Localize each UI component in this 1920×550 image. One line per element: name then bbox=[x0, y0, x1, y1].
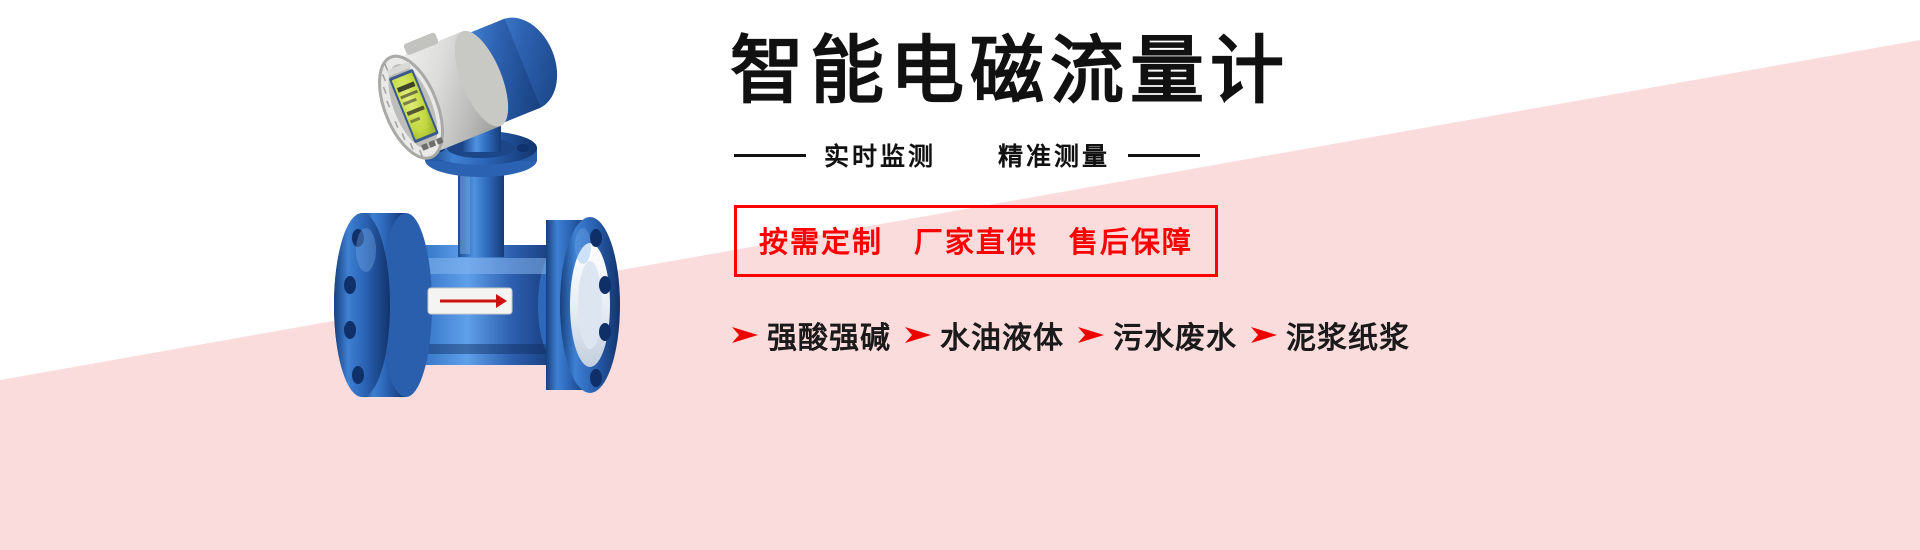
banner-text-block: 智能电磁流量计 实时监测 精准测量 按需定制 厂家直供 售后保障 强酸强碱 bbox=[730, 30, 1430, 357]
application-label: 水油液体 bbox=[940, 313, 1064, 357]
red-triangle-arrow-icon bbox=[732, 325, 758, 345]
subtitle-right: 精准测量 bbox=[998, 137, 1110, 173]
application-label: 污水废水 bbox=[1113, 313, 1237, 357]
subtitle-rule-right bbox=[1128, 154, 1200, 157]
application-list: 强酸强碱 水油液体 污水废水 泥浆纸浆 bbox=[732, 313, 1430, 357]
flowmeter-product-image bbox=[300, 0, 720, 500]
subtitle-rule-left bbox=[734, 154, 806, 157]
transmitter-neck bbox=[458, 165, 504, 257]
subtitle-row: 实时监测 精准测量 bbox=[730, 137, 1430, 173]
promo-item-factory: 厂家直供 bbox=[914, 227, 1038, 259]
promo-item-custom: 按需定制 bbox=[759, 227, 883, 259]
right-flange bbox=[546, 217, 620, 393]
promo-item-warranty: 售后保障 bbox=[1069, 227, 1193, 259]
left-flange bbox=[334, 213, 432, 397]
promo-box: 按需定制 厂家直供 售后保障 bbox=[734, 205, 1218, 277]
list-item: 强酸强碱 bbox=[732, 313, 891, 357]
list-item: 泥浆纸浆 bbox=[1251, 313, 1410, 357]
red-triangle-arrow-icon bbox=[1078, 325, 1104, 345]
red-triangle-arrow-icon bbox=[905, 325, 931, 345]
flow-direction-arrow bbox=[428, 288, 512, 314]
application-label: 泥浆纸浆 bbox=[1286, 313, 1410, 357]
page-title: 智能电磁流量计 bbox=[730, 30, 1430, 111]
red-triangle-arrow-icon bbox=[1251, 325, 1277, 345]
product-banner: 智能电磁流量计 实时监测 精准测量 按需定制 厂家直供 售后保障 强酸强碱 bbox=[0, 0, 1920, 550]
flowmeter-svg bbox=[300, 0, 720, 500]
list-item: 水油液体 bbox=[905, 313, 1064, 357]
application-label: 强酸强碱 bbox=[767, 313, 891, 357]
list-item: 污水废水 bbox=[1078, 313, 1237, 357]
subtitle-left: 实时监测 bbox=[824, 137, 936, 173]
